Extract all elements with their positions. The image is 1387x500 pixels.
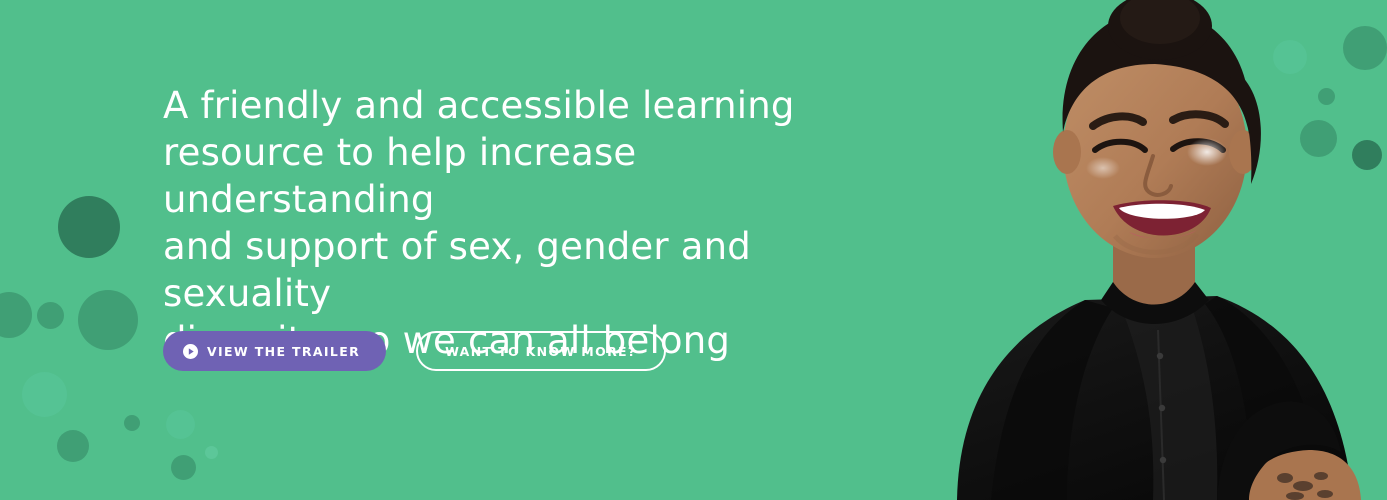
- decorative-bubble: [171, 455, 196, 480]
- want-to-know-more-label: Want to know more?: [445, 344, 636, 359]
- decorative-bubble: [0, 292, 32, 338]
- want-to-know-more-button[interactable]: Want to know more?: [416, 331, 665, 371]
- cta-button-row: View the trailer Want to know more?: [163, 331, 666, 371]
- decorative-bubble: [124, 415, 140, 431]
- view-the-trailer-button[interactable]: View the trailer: [163, 331, 386, 371]
- decorative-bubble: [57, 430, 89, 462]
- decorative-bubble: [58, 196, 120, 258]
- decorative-bubble: [37, 302, 64, 329]
- decorative-bubble: [22, 372, 67, 417]
- decorative-bubble: [78, 290, 138, 350]
- decorative-bubble: [205, 446, 218, 459]
- view-the-trailer-label: View the trailer: [207, 344, 360, 359]
- portrait-image: [917, 0, 1387, 500]
- page-title: A friendly and accessible learning resou…: [163, 82, 883, 364]
- decorative-bubble: [166, 410, 195, 439]
- hero-banner: A friendly and accessible learning resou…: [0, 0, 1387, 500]
- headline-block: A friendly and accessible learning resou…: [163, 82, 883, 364]
- play-circle-icon: [183, 344, 198, 359]
